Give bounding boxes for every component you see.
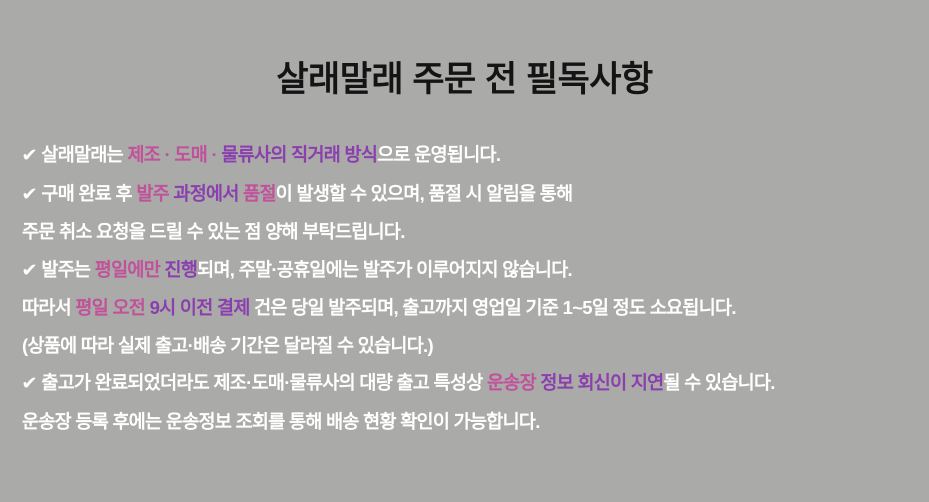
notice-line: ✔살래말래는 제조 · 도매 · 물류사의 직거래 방식으로 운영됩니다. bbox=[22, 136, 914, 175]
check-icon: ✔ bbox=[21, 137, 37, 175]
notice-text-segment: 9시 이전 결제 bbox=[150, 297, 255, 318]
notice-body: ✔살래말래는 제조 · 도매 · 물류사의 직거래 방식으로 운영됩니다.✔구매… bbox=[22, 136, 914, 440]
page-title: 살래말래 주문 전 필독사항 bbox=[0, 58, 929, 102]
notice-line: 따라서 평일 오전 9시 이전 결제 건은 당일 발주되며, 출고까지 영업일 … bbox=[22, 289, 914, 327]
notice-text-segment: 진행 bbox=[165, 259, 198, 280]
notice-text-segment: 품절 bbox=[243, 183, 276, 204]
notice-line: ✔발주는 평일에만 진행되며, 주말·공휴일에는 발주가 이루어지지 않습니다. bbox=[22, 251, 914, 290]
check-icon: ✔ bbox=[21, 252, 37, 290]
notice-text-segment: (상품에 따라 실제 출고·배송 기간은 달라질 수 있습니다.) bbox=[22, 335, 433, 356]
notice-line: ✔출고가 완료되었더라도 제조·도매·물류사의 대량 출고 특성상 운송장 정보… bbox=[22, 364, 914, 403]
notice-text-segment: 될 수 있습니다. bbox=[664, 372, 775, 393]
notice-card: 살래말래 주문 전 필독사항 ✔살래말래는 제조 · 도매 · 물류사의 직거래… bbox=[0, 0, 929, 502]
notice-text-segment: 으로 운영됩니다. bbox=[377, 144, 500, 165]
notice-text-segment: 따라서 bbox=[22, 297, 75, 318]
notice-text-segment: 제조 · 도매 · bbox=[127, 144, 221, 165]
notice-text-segment: 발주 bbox=[136, 183, 173, 204]
notice-line: 주문 취소 요청을 드릴 수 있는 점 양해 부탁드립니다. bbox=[22, 213, 914, 251]
notice-text-segment: 건은 당일 발주되며, 출고까지 영업일 기준 1~5일 정도 소요됩니다. bbox=[254, 297, 736, 318]
notice-text-segment: 평일 오전 bbox=[75, 297, 149, 318]
notice-text-segment: 정보 회신이 지연 bbox=[540, 372, 663, 393]
notice-text-segment: 출고가 완료되었더라도 제조·도매·물류사의 대량 출고 특성상 bbox=[41, 372, 487, 393]
check-icon: ✔ bbox=[21, 176, 37, 214]
notice-text-segment: 운송장 bbox=[487, 372, 540, 393]
notice-line: ✔구매 완료 후 발주 과정에서 품절이 발생할 수 있으며, 품절 시 알림을… bbox=[22, 175, 914, 214]
notice-text-segment: 구매 완료 후 bbox=[41, 183, 136, 204]
notice-text-segment: 이 발생할 수 있으며, 품절 시 알림을 통해 bbox=[276, 183, 573, 204]
notice-text-segment: 과정에서 bbox=[173, 183, 243, 204]
notice-text-segment: 되며, 주말·공휴일에는 발주가 이루어지지 않습니다. bbox=[197, 259, 572, 280]
notice-text-segment: 발주는 bbox=[41, 259, 94, 280]
notice-line: 운송장 등록 후에는 운송정보 조회를 통해 배송 현황 확인이 가능합니다. bbox=[22, 403, 914, 441]
notice-line: (상품에 따라 실제 출고·배송 기간은 달라질 수 있습니다.) bbox=[22, 327, 914, 365]
notice-text-segment: 물류사의 직거래 방식 bbox=[221, 144, 377, 165]
check-icon: ✔ bbox=[21, 365, 37, 403]
notice-text-segment: 평일에만 bbox=[95, 259, 165, 280]
notice-text-segment: 주문 취소 요청을 드릴 수 있는 점 양해 부탁드립니다. bbox=[22, 221, 405, 242]
notice-text-segment: 살래말래는 bbox=[41, 144, 127, 165]
notice-text-segment: 운송장 등록 후에는 운송정보 조회를 통해 배송 현황 확인이 가능합니다. bbox=[22, 411, 540, 432]
